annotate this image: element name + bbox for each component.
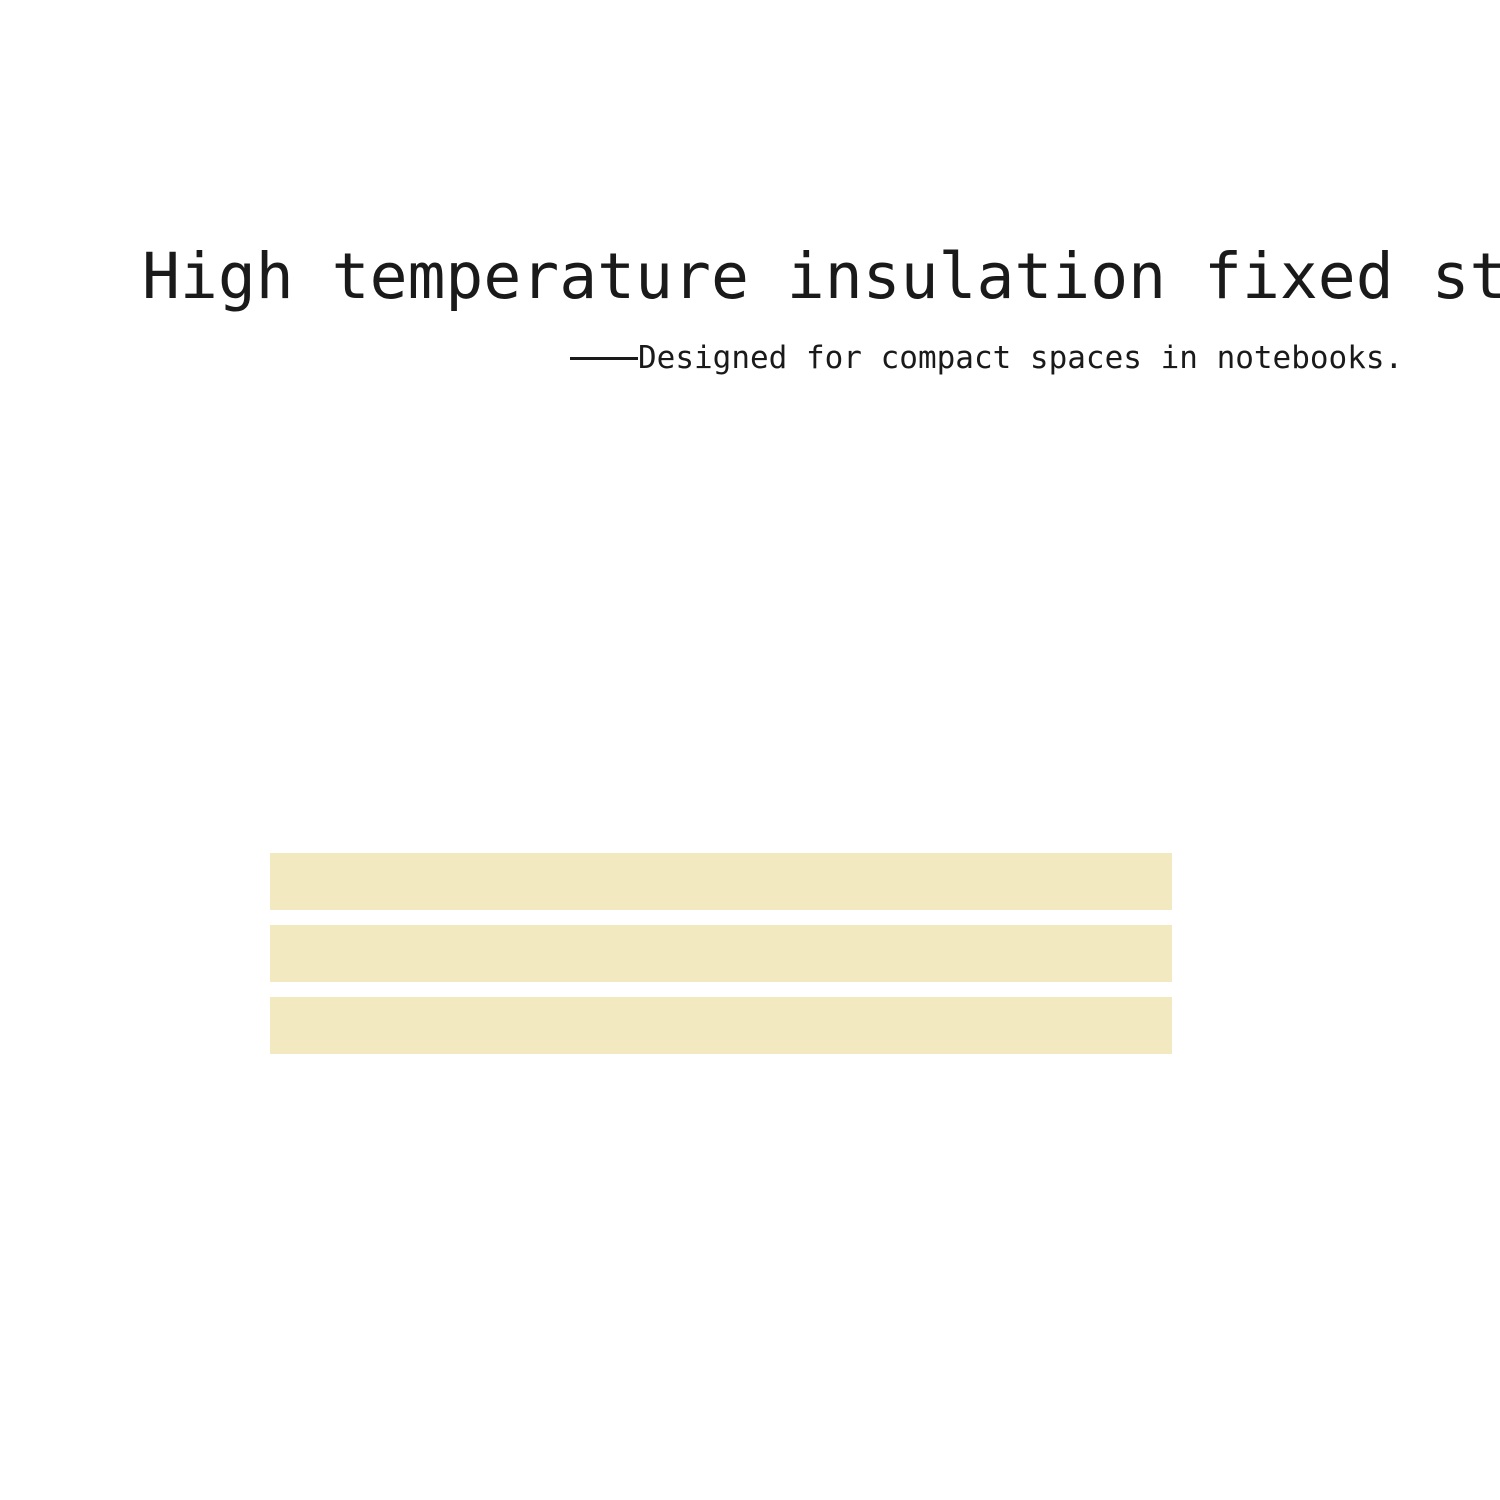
product-banner-page: High temperature insulation fixed sticke… — [0, 0, 1500, 1500]
insulation-sticker-strips — [270, 853, 1172, 1054]
sticker-strip-1 — [270, 853, 1172, 910]
em-dash-rule-icon — [570, 357, 638, 360]
subtitle-row: Designed for compact spaces in notebooks… — [570, 338, 1403, 378]
page-title: High temperature insulation fixed sticke… — [142, 238, 1500, 316]
sticker-strip-2 — [270, 925, 1172, 982]
subtitle-text: Designed for compact spaces in notebooks… — [638, 338, 1403, 378]
sticker-strip-3 — [270, 997, 1172, 1054]
